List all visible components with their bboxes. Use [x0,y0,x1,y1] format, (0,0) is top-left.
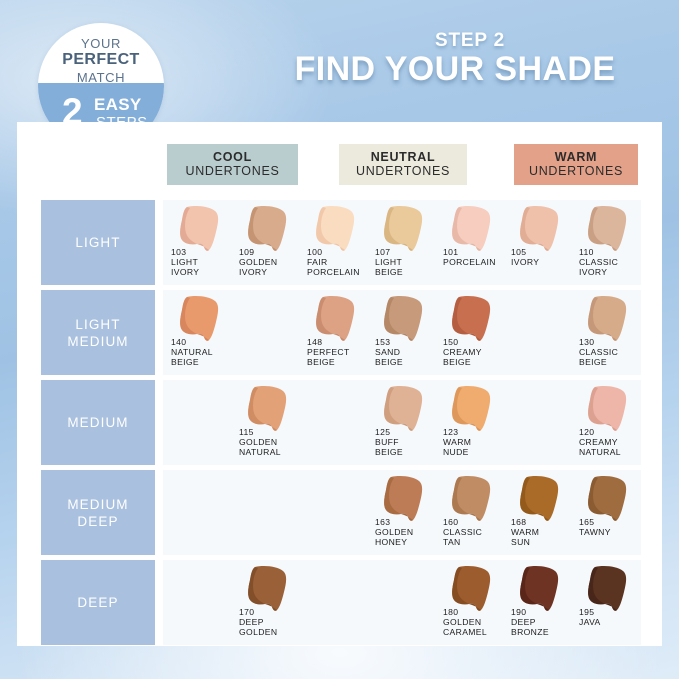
shade-cell[interactable]: 103LIGHTIVORY [169,200,241,285]
shade-name: CLASSICBEIGE [579,348,659,368]
level-chip-light[interactable]: LIGHT [41,200,155,285]
shade-row: MEDIUMDEEP163GOLDENHONEY160CLASSICTAN168… [41,470,641,555]
shade-name: CLASSICIVORY [579,258,659,278]
shade-cell[interactable]: 109GOLDENIVORY [237,200,309,285]
shade-name: WARMNUDE [443,438,523,458]
undertone-warm-name: WARM [555,150,597,164]
level-label: LIGHT [75,234,120,251]
shade-cell[interactable]: 150CREAMYBEIGE [441,290,513,375]
step-label: STEP 2 [260,30,679,52]
shade-cell[interactable]: 195JAVA [577,560,649,645]
undertone-warm-sub: UNDERTONES [529,164,623,179]
undertone-header-neutral: NEUTRAL UNDERTONES [339,144,467,185]
shade-row: DEEP170DEEPGOLDEN180GOLDENCARAMEL190DEEP… [41,560,641,645]
shade-cell[interactable]: 107LIGHTBEIGE [373,200,445,285]
badge-perfect-label: PERFECT [38,51,164,69]
shade-cell[interactable]: 190DEEPBRONZE [509,560,581,645]
shade-caption: 120CREAMYNATURAL [579,428,659,457]
badge-match-label: MATCH [38,70,164,85]
page-title: FIND YOUR SHADE [230,50,679,89]
shade-name: NATURALBEIGE [171,348,251,368]
shade-cell[interactable]: 100FAIRPORCELAIN [305,200,377,285]
shade-cell[interactable]: 168WARMSUN [509,470,581,555]
level-label: MEDIUMDEEP [67,496,128,530]
shade-caption: 150CREAMYBEIGE [443,338,523,367]
shade-cell[interactable]: 163GOLDENHONEY [373,470,445,555]
shade-cell[interactable]: 125BUFFBEIGE [373,380,445,465]
shade-caption: 130CLASSICBEIGE [579,338,659,367]
shade-caption: 170DEEPGOLDEN [239,608,319,637]
badge-easy-label: EASY [94,95,142,115]
undertone-cool-sub: UNDERTONES [185,164,279,179]
shade-caption: 140NATURALBEIGE [171,338,251,367]
shade-caption: 115GOLDENNATURAL [239,428,319,457]
shade-caption: 195JAVA [579,608,659,628]
shade-cell[interactable]: 130CLASSICBEIGE [577,290,649,375]
shade-cell[interactable]: 170DEEPGOLDEN [237,560,309,645]
shade-cell[interactable]: 153SANDBEIGE [373,290,445,375]
shade-cell[interactable]: 140NATURALBEIGE [169,290,241,375]
undertone-neutral-sub: UNDERTONES [356,164,450,179]
shade-cell[interactable]: 165TAWNY [577,470,649,555]
shade-name: GOLDENNATURAL [239,438,319,458]
shade-caption: 110CLASSICIVORY [579,248,659,277]
shade-name: DEEPGOLDEN [239,618,319,638]
level-label: MEDIUM [67,414,128,431]
shade-caption: 123WARMNUDE [443,428,523,457]
level-label: DEEP [77,594,118,611]
shade-name: TAWNY [579,528,659,538]
undertone-neutral-name: NEUTRAL [371,150,436,164]
undertone-header-cool: COOL UNDERTONES [167,144,298,185]
level-chip-light-medium[interactable]: LIGHTMEDIUM [41,290,155,375]
level-chip-deep[interactable]: DEEP [41,560,155,645]
shade-row: LIGHT103LIGHTIVORY109GOLDENIVORY100FAIRP… [41,200,641,285]
shade-name: JAVA [579,618,659,628]
shade-cell[interactable]: 148PERFECTBEIGE [305,290,377,375]
shade-name: CREAMYBEIGE [443,348,523,368]
shade-cell[interactable]: 115GOLDENNATURAL [237,380,309,465]
shade-cell[interactable]: 110CLASSICIVORY [577,200,649,285]
shade-cell[interactable]: 180GOLDENCARAMEL [441,560,513,645]
shade-name: CREAMYNATURAL [579,438,659,458]
poster-root: STEP 2 FIND YOUR SHADE YOUR PERFECT MATC… [0,0,679,679]
shade-cell[interactable]: 160CLASSICTAN [441,470,513,555]
level-label: LIGHTMEDIUM [67,316,128,350]
shade-caption: 165TAWNY [579,518,659,538]
level-chip-medium-deep[interactable]: MEDIUMDEEP [41,470,155,555]
shade-cell[interactable]: 105IVORY [509,200,581,285]
undertone-header-warm: WARM UNDERTONES [514,144,638,185]
shade-cell[interactable]: 101PORCELAIN [441,200,513,285]
shade-row: MEDIUM115GOLDENNATURAL125BUFFBEIGE123WAR… [41,380,641,465]
undertone-cool-name: COOL [213,150,252,164]
shade-row: LIGHTMEDIUM140NATURALBEIGE148PERFECTBEIG… [41,290,641,375]
shade-cell[interactable]: 123WARMNUDE [441,380,513,465]
shade-cell[interactable]: 120CREAMYNATURAL [577,380,649,465]
level-chip-medium[interactable]: MEDIUM [41,380,155,465]
badge-your-label: YOUR [38,36,164,51]
